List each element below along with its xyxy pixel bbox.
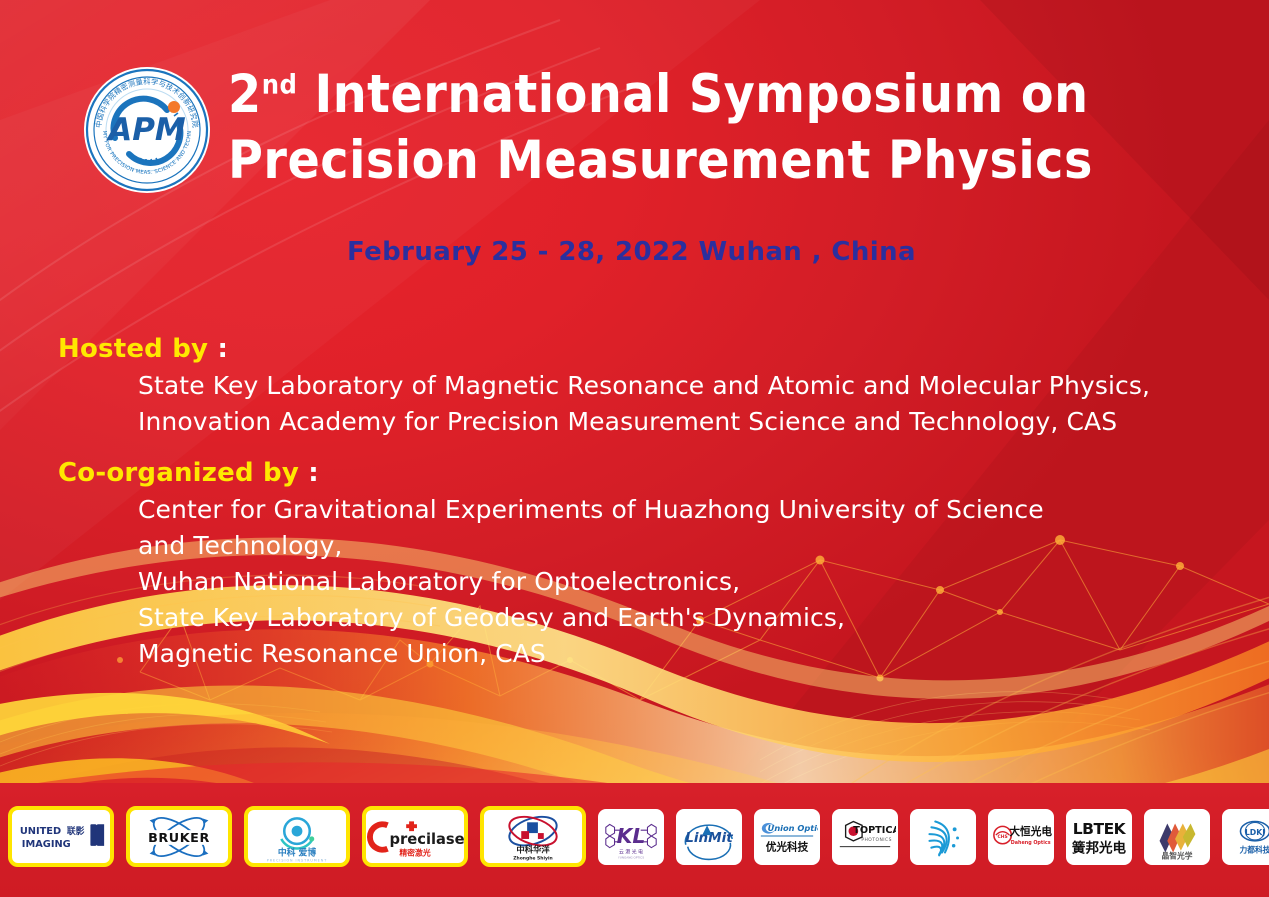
linmit-logo-icon: LinMit xyxy=(678,811,740,863)
co-organized-heading: Co-organized by : xyxy=(58,456,1238,490)
svg-text:PRECISION INSTRUMENT: PRECISION INSTRUMENT xyxy=(267,858,327,862)
lidu-tech-logo-icon: LDKJ 力都科技 xyxy=(1224,811,1269,863)
svg-text:优光科技: 优光科技 xyxy=(766,840,809,853)
toptica-logo-icon: TOPTICA PHOTONICS xyxy=(834,811,896,863)
jingzhi-optics-logo-icon: 晶智光学 xyxy=(1146,811,1208,863)
svg-text:Zhonghe Shiyin: Zhonghe Shiyin xyxy=(513,855,552,861)
title-line-1: 2nd International Symposium on xyxy=(228,62,1208,128)
co-organized-colon: : xyxy=(299,458,319,488)
sponsor-blue-globe[interactable] xyxy=(910,809,976,865)
co-organized-line: Wuhan National Laboratory for Optoelectr… xyxy=(138,564,1238,600)
sponsor-zhongke-aibo[interactable]: 中科 爱博 PRECISION INSTRUMENT xyxy=(244,806,350,867)
sponsor-daheng-optics[interactable]: CHS 大恒光电 Daheng Optics xyxy=(988,809,1054,865)
sponsor-lidu-tech[interactable]: LDKJ 力都科技 xyxy=(1222,809,1269,865)
daheng-optics-logo-icon: CHS 大恒光电 Daheng Optics xyxy=(990,811,1052,863)
svg-text:联影: 联影 xyxy=(67,825,85,837)
svg-text:CHS: CHS xyxy=(998,833,1008,839)
svg-text:Daheng Optics: Daheng Optics xyxy=(1011,839,1051,845)
title-block: 2nd International Symposium on Precision… xyxy=(228,62,1208,194)
sponsor-lbtek[interactable]: LBTEK 簧邦光电 xyxy=(1066,809,1132,865)
svg-text:IMAGING: IMAGING xyxy=(22,838,71,849)
bruker-logo-icon: BRUKER xyxy=(130,810,228,863)
svg-text:Union Optic: Union Optic xyxy=(768,823,818,833)
poster-header: 中国科学院精密测量科学与技术创新研究院 ACADEMY FOR PRECISIO… xyxy=(0,0,1269,300)
hosted-by-section: Hosted by : State Key Laboratory of Magn… xyxy=(58,332,1238,440)
svg-text:中科华洋: 中科华洋 xyxy=(516,844,550,854)
lbtek-logo-icon: LBTEK 簧邦光电 xyxy=(1068,811,1130,863)
hosted-by-colon: : xyxy=(208,334,228,364)
co-organized-section: Co-organized by : Center for Gravitation… xyxy=(58,456,1238,672)
hosted-by-label: Hosted by xyxy=(58,334,208,364)
apm-emblem-svg: 中国科学院精密测量科学与技术创新研究院 ACADEMY FOR PRECISIO… xyxy=(83,66,211,194)
hosted-by-list: State Key Laboratory of Magnetic Resonan… xyxy=(138,368,1238,440)
co-organized-line: Magnetic Resonance Union, CAS xyxy=(138,636,1238,672)
sponsor-union-optic[interactable]: Union Optic 优光科技 xyxy=(754,809,820,865)
sponsor-jingzhi-optics[interactable]: 晶智光学 xyxy=(1144,809,1210,865)
svg-text:精密激光: 精密激光 xyxy=(399,847,430,857)
svg-text:PHOTONICS: PHOTONICS xyxy=(861,836,892,842)
organizer-info: Hosted by : State Key Laboratory of Magn… xyxy=(58,332,1238,672)
svg-text:APM: APM xyxy=(105,112,186,148)
svg-text:TOPTICA: TOPTICA xyxy=(853,825,896,836)
union-optic-logo-icon: Union Optic 优光科技 xyxy=(756,811,818,863)
precilasers-logo-icon: precilasers 精密激光 xyxy=(366,810,464,863)
svg-text:BRUKER: BRUKER xyxy=(148,830,210,845)
sponsor-zhonghe-shuyang[interactable]: 中科华洋 Zhonghe Shiyin xyxy=(480,806,586,867)
title-ordinal: 2 xyxy=(228,64,262,125)
kl-optics-logo-icon: KL 云 港 光 电 YUNGANG OPTICS xyxy=(600,811,662,863)
co-organized-line: State Key Laboratory of Geodesy and Eart… xyxy=(138,600,1238,636)
apm-logo-icon: 中国科学院精密测量科学与技术创新研究院 ACADEMY FOR PRECISIO… xyxy=(83,66,211,194)
title-line-2: Precision Measurement Physics xyxy=(228,128,1208,194)
sponsor-bruker[interactable]: BRUKER xyxy=(126,806,232,867)
blue-globe-logo-icon xyxy=(912,811,974,863)
sponsor-logo-row: UNITED 联影 IMAGING xyxy=(8,806,1269,867)
zhongke-aibo-logo-icon: 中科 爱博 PRECISION INSTRUMENT xyxy=(248,810,346,863)
hosted-by-heading: Hosted by : xyxy=(58,332,1238,366)
svg-text:大恒光电: 大恒光电 xyxy=(1009,825,1052,838)
title-main-1: International Symposium on xyxy=(314,64,1088,125)
section-spacer xyxy=(58,440,1238,456)
svg-text:簧邦光电: 簧邦光电 xyxy=(1072,839,1127,856)
svg-text:KL: KL xyxy=(617,823,646,847)
sponsor-toptica[interactable]: TOPTICA PHOTONICS xyxy=(832,809,898,865)
svg-text:UNITED: UNITED xyxy=(20,826,61,837)
hosted-by-line: Innovation Academy for Precision Measure… xyxy=(138,404,1238,440)
co-organized-line: and Technology, xyxy=(138,528,1238,564)
sponsor-kl-optics[interactable]: KL 云 港 光 电 YUNGANG OPTICS xyxy=(598,809,664,865)
co-organized-line: Center for Gravitational Experiments of … xyxy=(138,492,1238,528)
svg-text:LDKJ: LDKJ xyxy=(1245,828,1265,837)
date-location-line: February 25 - 28, 2022 Wuhan , China xyxy=(347,237,916,267)
svg-text:中科 爱博: 中科 爱博 xyxy=(278,846,317,858)
svg-text:LBTEK: LBTEK xyxy=(1073,820,1127,838)
sponsor-precilasers[interactable]: precilasers 精密激光 xyxy=(362,806,468,867)
svg-text:precilasers: precilasers xyxy=(390,830,464,847)
zhonghe-shuyang-logo-icon: 中科华洋 Zhonghe Shiyin xyxy=(484,810,582,863)
hosted-by-line: State Key Laboratory of Magnetic Resonan… xyxy=(138,368,1238,404)
svg-text:晶智光学: 晶智光学 xyxy=(1161,850,1192,860)
poster-canvas: 中国科学院精密测量科学与技术创新研究院 ACADEMY FOR PRECISIO… xyxy=(0,0,1269,897)
sponsor-united-imaging[interactable]: UNITED 联影 IMAGING xyxy=(8,806,114,867)
svg-text:YUNGANG OPTICS: YUNGANG OPTICS xyxy=(618,855,644,859)
co-organized-label: Co-organized by xyxy=(58,458,299,488)
united-imaging-logo-icon: UNITED 联影 IMAGING xyxy=(12,810,110,863)
sponsor-linmit[interactable]: LinMit xyxy=(676,809,742,865)
svg-text:力都科技: 力都科技 xyxy=(1239,844,1269,854)
co-organized-list: Center for Gravitational Experiments of … xyxy=(138,492,1238,672)
title-ordinal-suffix: nd xyxy=(262,69,298,100)
